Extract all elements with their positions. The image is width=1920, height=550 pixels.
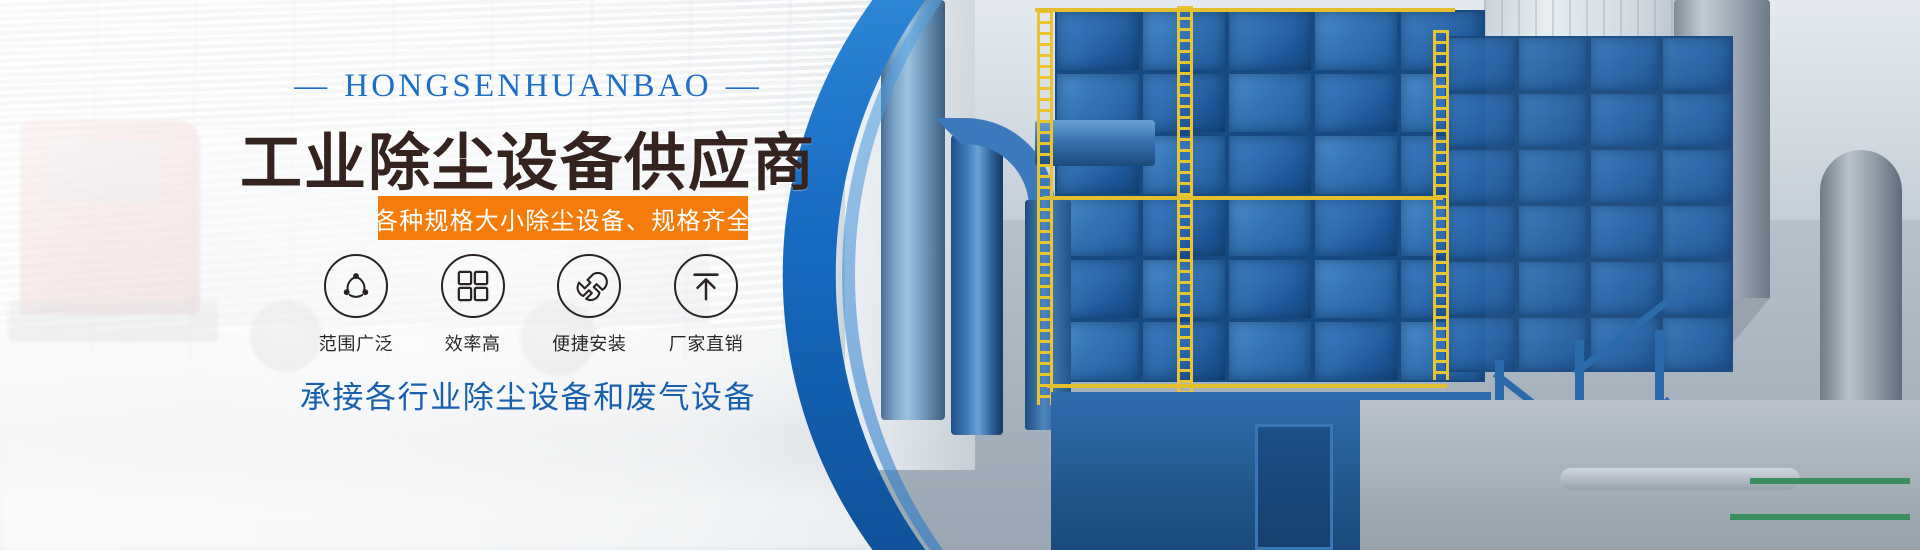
wrench-icon	[557, 254, 621, 318]
baghouse-cube-bank	[1055, 10, 1485, 390]
eyebrow-dash-right: —	[726, 68, 762, 105]
feature-label: 范围广泛	[306, 330, 406, 356]
feature-label: 效率高	[423, 330, 523, 356]
feature-label: 便捷安装	[539, 330, 639, 356]
arrow-up-bar-icon	[674, 254, 738, 318]
feature-item-efficiency: 效率高	[423, 254, 523, 356]
yellow-ladder-right	[1433, 30, 1449, 380]
subtitle-text: 各种规格大小除尘设备、规格齐全	[374, 201, 752, 236]
feature-item-range: 范围广泛	[306, 254, 406, 356]
banner-content: —HONGSENHUANBAO— 工业除尘设备供应商 各种规格大小除尘设备、规格…	[0, 0, 1100, 550]
brand-eyebrow: —HONGSENHUANBAO—	[0, 68, 1056, 105]
baghouse-access-door	[1255, 424, 1333, 550]
eyebrow-dash-left: —	[294, 68, 330, 105]
grid-four-squares-icon	[441, 254, 505, 318]
feature-item-installation: 便捷安装	[539, 254, 639, 356]
yellow-rail-low	[1047, 384, 1447, 388]
grey-silo-right	[1820, 150, 1902, 410]
green-handrail-upper	[1750, 478, 1910, 484]
yellow-rail-mid	[1043, 196, 1443, 200]
feature-item-direct-sales: 厂家直销	[656, 254, 756, 356]
promo-banner: —HONGSENHUANBAO— 工业除尘设备供应商 各种规格大小除尘设备、规格…	[0, 0, 1920, 550]
share-network-icon	[324, 254, 388, 318]
feature-label: 厂家直销	[656, 330, 756, 356]
subtitle-banner: 各种规格大小除尘设备、规格齐全	[378, 196, 748, 240]
banner-tagline: 承接各行业除尘设备和废气设备	[0, 372, 1056, 417]
yellow-ladder-mid	[1177, 6, 1193, 396]
feature-list: 范围广泛 效率高	[306, 254, 756, 356]
green-handrail-lower	[1730, 514, 1910, 520]
eyebrow-text: HONGSENHUANBAO	[344, 68, 711, 104]
page-title: 工业除尘设备供应商	[0, 112, 1056, 202]
